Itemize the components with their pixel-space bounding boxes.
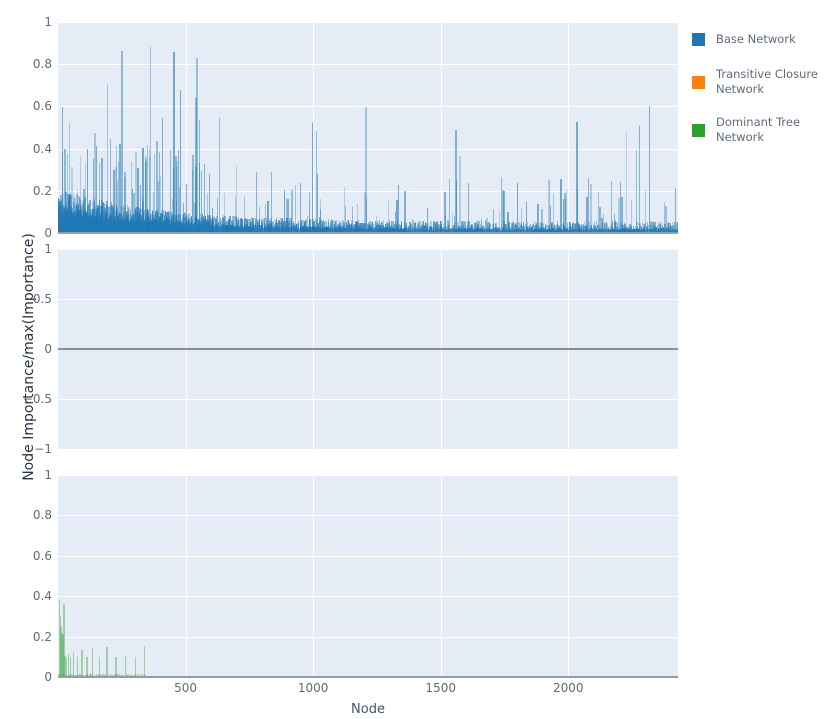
y-axis-ticks-dominant: 00.20.40.60.81	[0, 475, 52, 677]
bar	[449, 179, 451, 233]
bar	[639, 126, 640, 233]
x-tick-label: 500	[174, 681, 197, 695]
bar	[219, 118, 220, 233]
bar	[81, 650, 83, 677]
y-tick-label: −0.5	[4, 392, 52, 406]
bar-series-base-network	[58, 22, 678, 233]
bar-series-transitive-closure-network	[58, 249, 678, 449]
x-tick-label: 1500	[425, 681, 456, 695]
plotly-figure: Betweenness Centrality Importance Distri…	[0, 0, 833, 719]
y-tick-label: 0.8	[4, 508, 52, 522]
legend-label: Base Network	[716, 32, 796, 47]
y-tick-label: 0.2	[4, 184, 52, 198]
bar	[180, 90, 181, 233]
y-tick-label: 0	[4, 670, 52, 684]
legend-label: Transitive Closure Network	[716, 67, 818, 97]
legend-item[interactable]: Dominant Tree Network	[692, 115, 800, 145]
legend-label: Dominant Tree Network	[716, 115, 800, 145]
y-axis-ticks-base: 00.20.40.60.81	[0, 22, 52, 233]
bar	[626, 131, 628, 233]
legend-swatch-icon	[692, 76, 705, 89]
bar	[92, 648, 94, 677]
subplot-base-network	[58, 22, 678, 233]
y-tick-label: 0	[4, 226, 52, 240]
x-axis-line-base	[58, 232, 678, 234]
bar	[150, 47, 151, 233]
y-tick-label: 0.2	[4, 630, 52, 644]
y-tick-label: −1	[4, 442, 52, 456]
x-tick-label: 1000	[298, 681, 329, 695]
x-axis-line-dominant	[58, 676, 678, 678]
x-tick-label: 2000	[553, 681, 584, 695]
bar	[144, 646, 146, 677]
y-tick-label: 0.8	[4, 57, 52, 71]
y-tick-label: 1	[4, 242, 52, 256]
bar	[649, 106, 650, 233]
x-axis-title: Node	[58, 702, 678, 717]
y-tick-label: 0.4	[4, 589, 52, 603]
y-axis-ticks-transitive: −1−0.500.51	[0, 249, 52, 449]
bar-series-dominant-tree-network	[58, 475, 678, 677]
legend-swatch-icon	[692, 33, 705, 46]
bar	[636, 150, 637, 233]
y-tick-label: 0.5	[4, 292, 52, 306]
y-tick-label: 0.6	[4, 549, 52, 563]
bar	[312, 123, 313, 233]
subplot-dominant-tree-network	[58, 475, 678, 677]
bar	[106, 647, 108, 677]
subplot-transitive-closure-network	[58, 249, 678, 449]
y-tick-label: 0.6	[4, 99, 52, 113]
y-tick-label: 0.4	[4, 142, 52, 156]
legend-swatch-icon	[692, 124, 705, 137]
y-tick-label: 1	[4, 15, 52, 29]
y-tick-label: 1	[4, 468, 52, 482]
y-tick-label: 0	[4, 342, 52, 356]
legend-item[interactable]: Transitive Closure Network	[692, 67, 818, 97]
bar	[455, 130, 456, 233]
legend-item[interactable]: Base Network	[692, 32, 796, 47]
